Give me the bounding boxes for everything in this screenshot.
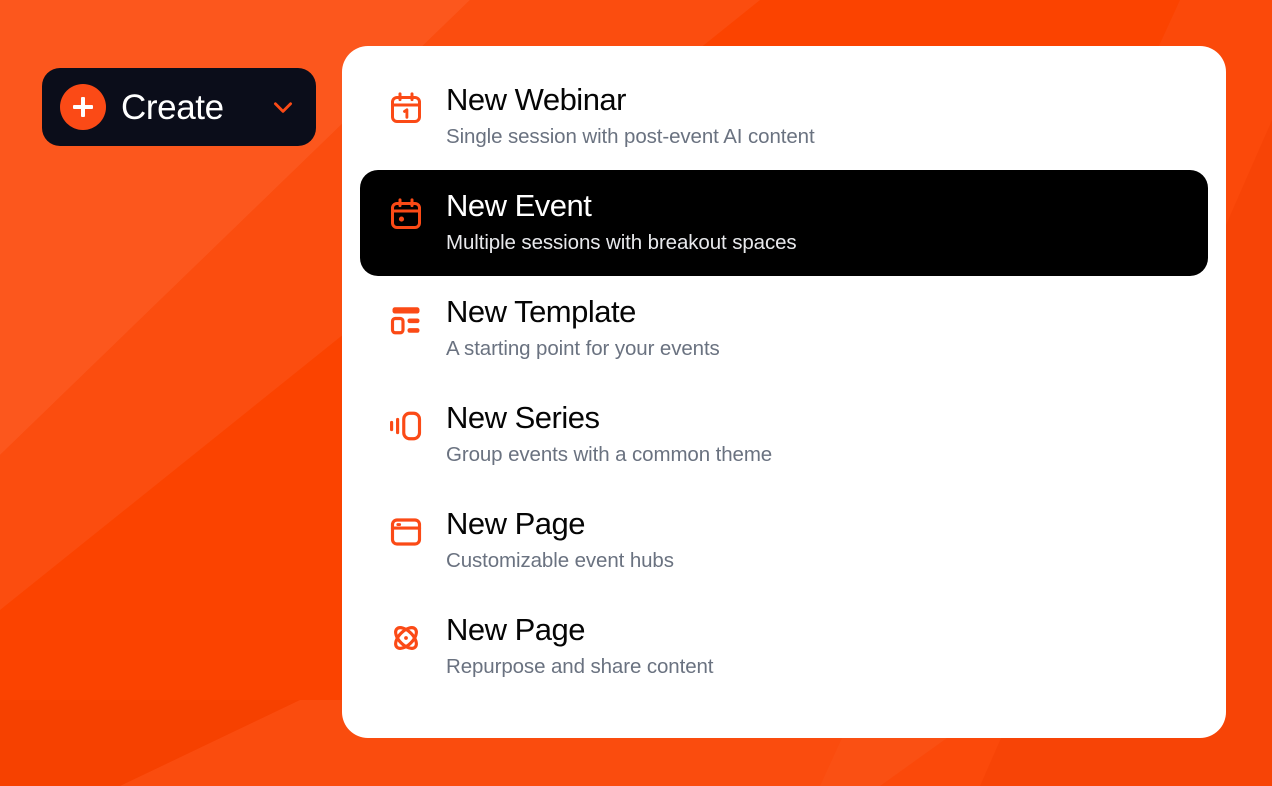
menu-item-text: New Page Repurpose and share content bbox=[446, 608, 713, 681]
menu-item-title: New Webinar bbox=[446, 80, 815, 121]
menu-item-subtitle: Repurpose and share content bbox=[446, 653, 713, 681]
menu-item-new-webinar[interactable]: New Webinar Single session with post-eve… bbox=[360, 64, 1208, 170]
menu-item-title: New Page bbox=[446, 504, 674, 545]
menu-item-title: New Series bbox=[446, 398, 772, 439]
menu-item-title: New Template bbox=[446, 292, 720, 333]
menu-item-new-event[interactable]: New Event Multiple sessions with breakou… bbox=[360, 170, 1208, 276]
menu-item-text: New Series Group events with a common th… bbox=[446, 396, 772, 469]
menu-item-subtitle: Single session with post-event AI conten… bbox=[446, 123, 815, 151]
menu-item-new-template[interactable]: New Template A starting point for your e… bbox=[360, 276, 1208, 382]
menu-list: New Webinar Single session with post-eve… bbox=[360, 64, 1208, 700]
plus-icon bbox=[60, 84, 106, 130]
calendar-dot-icon bbox=[388, 196, 424, 232]
create-button[interactable]: Create bbox=[42, 68, 316, 146]
create-button-label: Create bbox=[121, 90, 224, 125]
menu-item-text: New Event Multiple sessions with breakou… bbox=[446, 184, 797, 257]
menu-item-new-page-hub[interactable]: New Page Customizable event hubs bbox=[360, 488, 1208, 594]
menu-item-new-series[interactable]: New Series Group events with a common th… bbox=[360, 382, 1208, 488]
layout-list-icon bbox=[388, 302, 424, 338]
atom-icon bbox=[388, 620, 424, 656]
chevron-down-icon[interactable] bbox=[270, 94, 296, 120]
menu-item-subtitle: Multiple sessions with breakout spaces bbox=[446, 229, 797, 257]
menu-item-title: New Event bbox=[446, 186, 797, 227]
create-dropdown-menu: New Webinar Single session with post-eve… bbox=[342, 46, 1226, 738]
menu-item-text: New Webinar Single session with post-eve… bbox=[446, 78, 815, 151]
menu-item-title: New Page bbox=[446, 610, 713, 651]
calendar-one-icon bbox=[388, 90, 424, 126]
menu-item-subtitle: Group events with a common theme bbox=[446, 441, 772, 469]
menu-item-subtitle: Customizable event hubs bbox=[446, 547, 674, 575]
carousel-icon bbox=[388, 408, 424, 444]
menu-item-new-page-content[interactable]: New Page Repurpose and share content bbox=[360, 594, 1208, 700]
browser-window-icon bbox=[388, 514, 424, 550]
menu-item-subtitle: A starting point for your events bbox=[446, 335, 720, 363]
menu-item-text: New Template A starting point for your e… bbox=[446, 290, 720, 363]
menu-item-text: New Page Customizable event hubs bbox=[446, 502, 674, 575]
